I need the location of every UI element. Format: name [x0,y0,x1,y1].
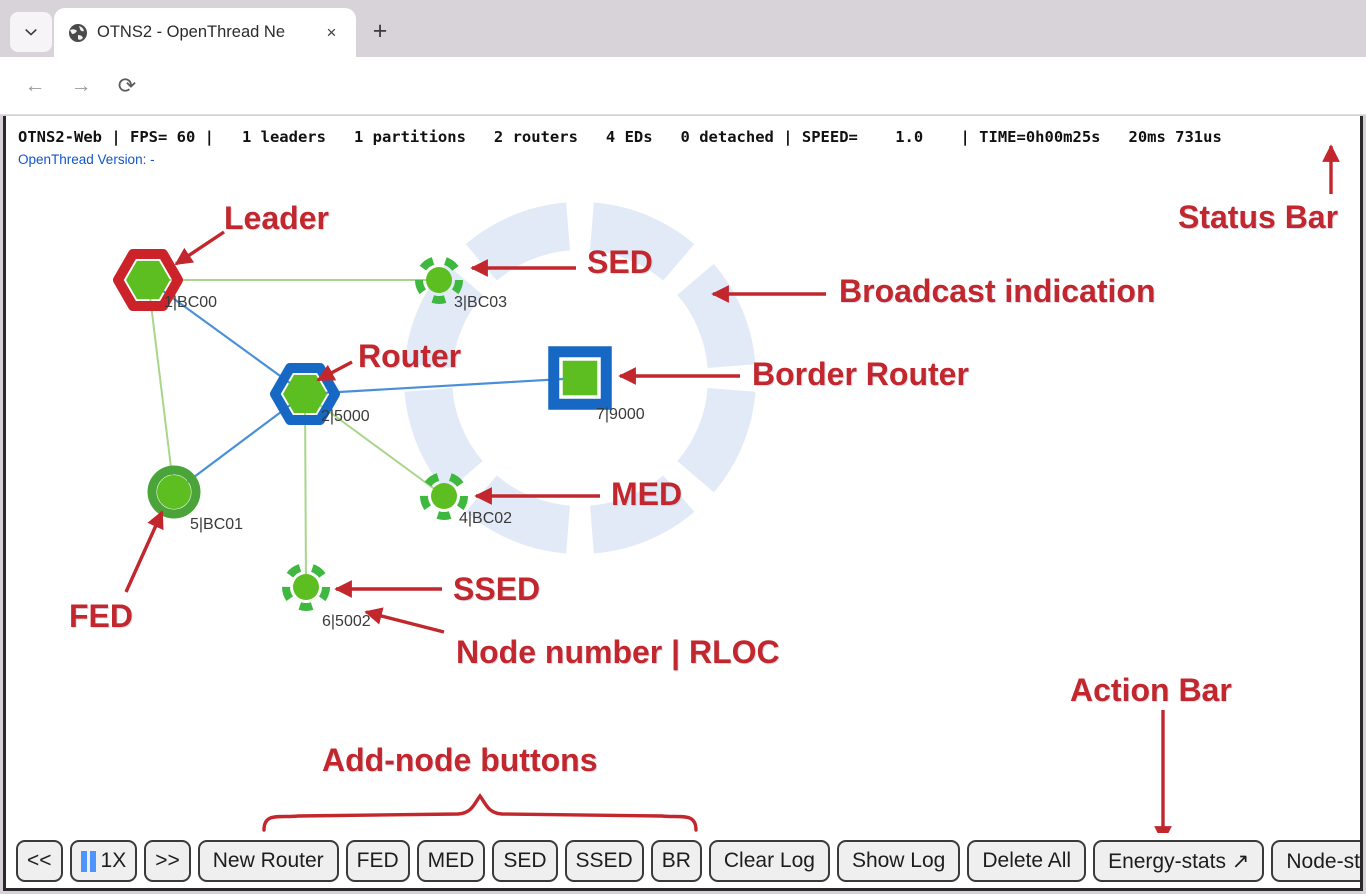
annotation-arrow-fed [126,512,162,592]
broadcast-arc-segment [677,388,755,492]
action-button-label: New Router [213,849,324,873]
node-label-3: 3|BC03 [454,294,507,312]
node-label-4: 4|BC02 [459,510,512,528]
annotation-label-ssed: SSED [453,571,540,608]
annotation-label-status-bar: Status Bar [1178,199,1338,236]
browser-tabstrip: OTNS2 - OpenThread Ne × + [0,0,1366,57]
annotation-label-med: MED [611,476,682,513]
pause-icon [81,851,96,872]
action-button-label: Energy-stats ↗ [1108,849,1249,874]
annotation-label-border-router: Border Router [752,356,969,393]
action-button-label: << [27,849,52,873]
node-label-5: 5|BC01 [190,516,243,534]
node-label-6: 6|5002 [322,613,371,631]
action-button-sed[interactable]: SED [492,840,557,882]
action-button-delete-all[interactable]: Delete All [967,840,1086,882]
annotation-label-action-bar: Action Bar [1070,672,1232,709]
action-button-step-back[interactable]: << [16,840,63,882]
action-button-new-router[interactable]: New Router [198,840,339,882]
action-button-show-log[interactable]: Show Log [837,840,960,882]
annotation-arrow-node-rloc [366,612,444,632]
annotation-label-leader: Leader [224,200,329,237]
forward-icon[interactable]: → [66,71,96,101]
browser-navbar: ← → ⟳ i localhost:8997/visualize?addr=lo… [0,57,1366,115]
action-button-fed[interactable]: FED [346,840,410,882]
annotation-label-fed: FED [69,598,133,635]
broadcast-arc-segment [677,264,755,368]
new-tab-button[interactable]: + [364,16,396,48]
node-label-7: 7|9000 [596,406,645,424]
back-icon[interactable]: ← [20,71,50,101]
browser-tab-title: OTNS2 - OpenThread Ne [97,23,319,42]
annotation-label-router: Router [358,338,461,375]
annotation-arrows [126,146,1331,842]
node-label-2: 2|5000 [321,408,370,426]
reload-icon[interactable]: ⟳ [112,71,142,101]
node-fill [157,475,191,509]
action-button-node-stats[interactable]: Node-stats ↗ [1271,840,1363,882]
annotation-arrow-leader [176,232,224,264]
annotation-label-sed: SED [587,244,653,281]
chevron-down-icon [23,24,39,40]
action-button-energy-stats[interactable]: Energy-stats ↗ [1093,840,1264,882]
browser-window: OTNS2 - OpenThread Ne × + ← → ⟳ i localh… [0,0,1366,894]
action-button-label: SED [503,849,546,873]
annotation-label-node-rloc: Node number | RLOC [456,634,780,671]
action-button-clear-log[interactable]: Clear Log [709,840,830,882]
action-button-speed[interactable]: 1X [70,840,138,882]
action-button-label: 1X [101,849,127,873]
action-button-label: FED [357,849,399,873]
action-button-label: >> [155,849,180,873]
action-button-step-forward[interactable]: >> [144,840,191,882]
node-fill [563,361,598,396]
node-fill [293,574,319,600]
action-button-label: Node-stats ↗ [1286,849,1363,874]
globe-favicon-icon [68,23,88,43]
action-button-label: BR [662,849,691,873]
annotation-label-add-node: Add-node buttons [322,742,597,779]
action-button-label: Show Log [852,849,945,873]
action-button-ssed[interactable]: SSED [565,840,644,882]
network-topology-canvas[interactable] [6,116,1363,891]
tab-list-button[interactable] [10,12,52,52]
node-fill [431,483,457,509]
action-button-label: Clear Log [724,849,815,873]
otns-web-page: OTNS2-Web | FPS= 60 | 1 leaders 1 partit… [3,116,1363,891]
node-label-1: 1|BC00 [164,294,217,312]
annotation-label-broadcast: Broadcast indication [839,273,1156,310]
action-button-label: MED [428,849,475,873]
action-button-br[interactable]: BR [651,840,702,882]
action-button-label: SSED [576,849,633,873]
browser-tab-active[interactable]: OTNS2 - OpenThread Ne × [54,8,356,57]
add-node-brace [264,796,696,830]
tab-close-icon[interactable]: × [321,22,342,43]
action-button-label: Delete All [982,849,1071,873]
action-bar[interactable]: <<1X>>New RouterFEDMEDSEDSSEDBRClear Log… [6,833,1360,888]
node-fill [426,267,452,293]
action-button-med[interactable]: MED [417,840,486,882]
node-5-fed[interactable] [152,470,196,514]
